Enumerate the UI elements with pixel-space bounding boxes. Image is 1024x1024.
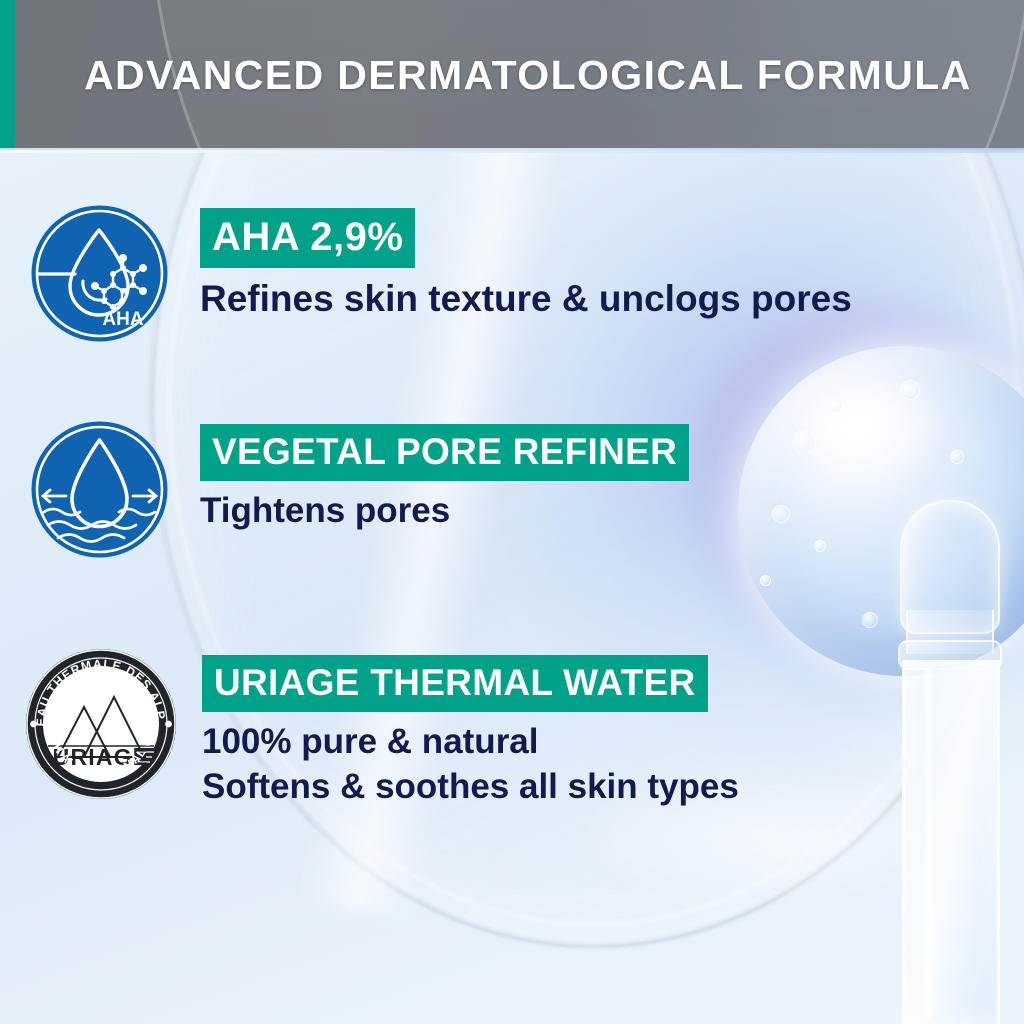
product-infographic: ADVANCED DERMATOLOGICAL FORMULA [0,0,1024,1024]
feature-text-aha: AHA 2,9% Refines skin texture & unclogs … [200,202,852,321]
header-title: ADVANCED DERMATOLOGICAL FORMULA [84,0,972,150]
feature-item-aha: AHA AHA 2,9% Refines skin texture & uncl… [28,202,852,345]
feature-badge-thermal-water: URIAGE THERMAL WATER [202,655,708,712]
feature-item-thermal-water: URIAGE L'EAU THERMALE DES ALPES FRENCH A… [22,645,739,808]
feature-description-pore-refiner: Tightens pores [200,490,689,531]
pore-refiner-droplet-icon [28,418,171,561]
header-banner: ADVANCED DERMATOLOGICAL FORMULA [0,0,1024,150]
feature-list: AHA AHA 2,9% Refines skin texture & uncl… [0,150,1024,1024]
aha-icon-label: AHA [102,309,143,330]
feature-text-pore-refiner: VEGETAL PORE REFINER Tightens pores [200,418,689,531]
feature-badge-aha: AHA 2,9% [200,208,415,268]
feature-item-pore-refiner: VEGETAL PORE REFINER Tightens pores [28,418,689,561]
feature-description-aha: Refines skin texture & unclogs pores [200,277,852,321]
feature-description-thermal-water-2: Softens & soothes all skin types [202,766,739,807]
feature-text-thermal-water: URIAGE THERMAL WATER 100% pure & natural… [202,645,739,808]
uriage-logo-badge: URIAGE L'EAU THERMALE DES ALPES FRENCH A… [22,645,180,803]
aha-droplet-icon: AHA [28,202,171,345]
header-accent-bar [0,0,15,150]
feature-description-thermal-water-1: 100% pure & natural [202,721,739,762]
feature-badge-pore-refiner: VEGETAL PORE REFINER [200,424,689,481]
